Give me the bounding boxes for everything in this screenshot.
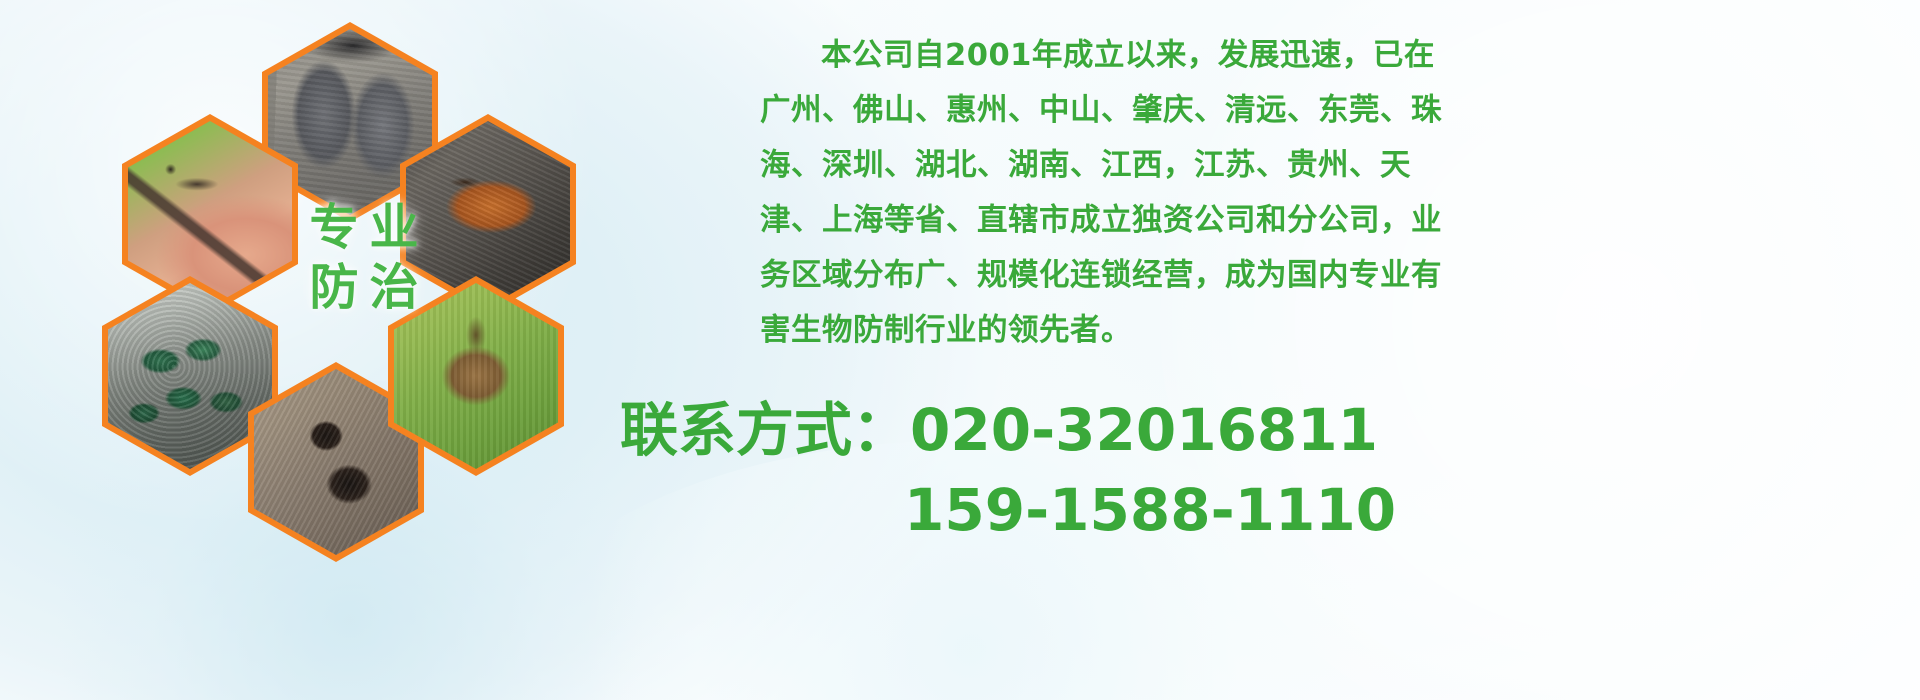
hexagon-photo-cluster: 专业 防治 — [88, 8, 588, 568]
contact-block: 联系方式：020-32016811 159-1588-1110 — [620, 390, 1800, 550]
hex-inner-flies — [108, 283, 272, 469]
hex-inner-stinkbug — [394, 283, 558, 469]
intro-text: 本公司自2001年成立以来，发展迅速，已在广州、佛山、惠州、中山、肇庆、清远、东… — [760, 28, 1450, 358]
hex-inner-cockroach — [406, 121, 570, 307]
right-content-column: 本公司自2001年成立以来，发展迅速，已在广州、佛山、惠州、中山、肇庆、清远、东… — [760, 28, 1880, 358]
contact-phone-primary[interactable]: 联系方式：020-32016811 — [620, 390, 1800, 470]
flies-photo — [108, 283, 272, 469]
contact-phone-secondary[interactable]: 159-1588-1110 — [620, 470, 1800, 550]
stinkbug-photo — [394, 283, 558, 469]
cockroach-photo — [406, 121, 570, 307]
mosquito-photo — [128, 121, 292, 307]
company-intro-paragraph: 本公司自2001年成立以来，发展迅速，已在广州、佛山、惠州、中山、肇庆、清远、东… — [760, 28, 1450, 358]
pest-control-banner: 专业 防治 本公司自2001年成立以来，发展迅速，已在广州、佛山、惠州、中山、肇… — [0, 0, 1920, 700]
hex-inner-mosquito — [128, 121, 292, 307]
